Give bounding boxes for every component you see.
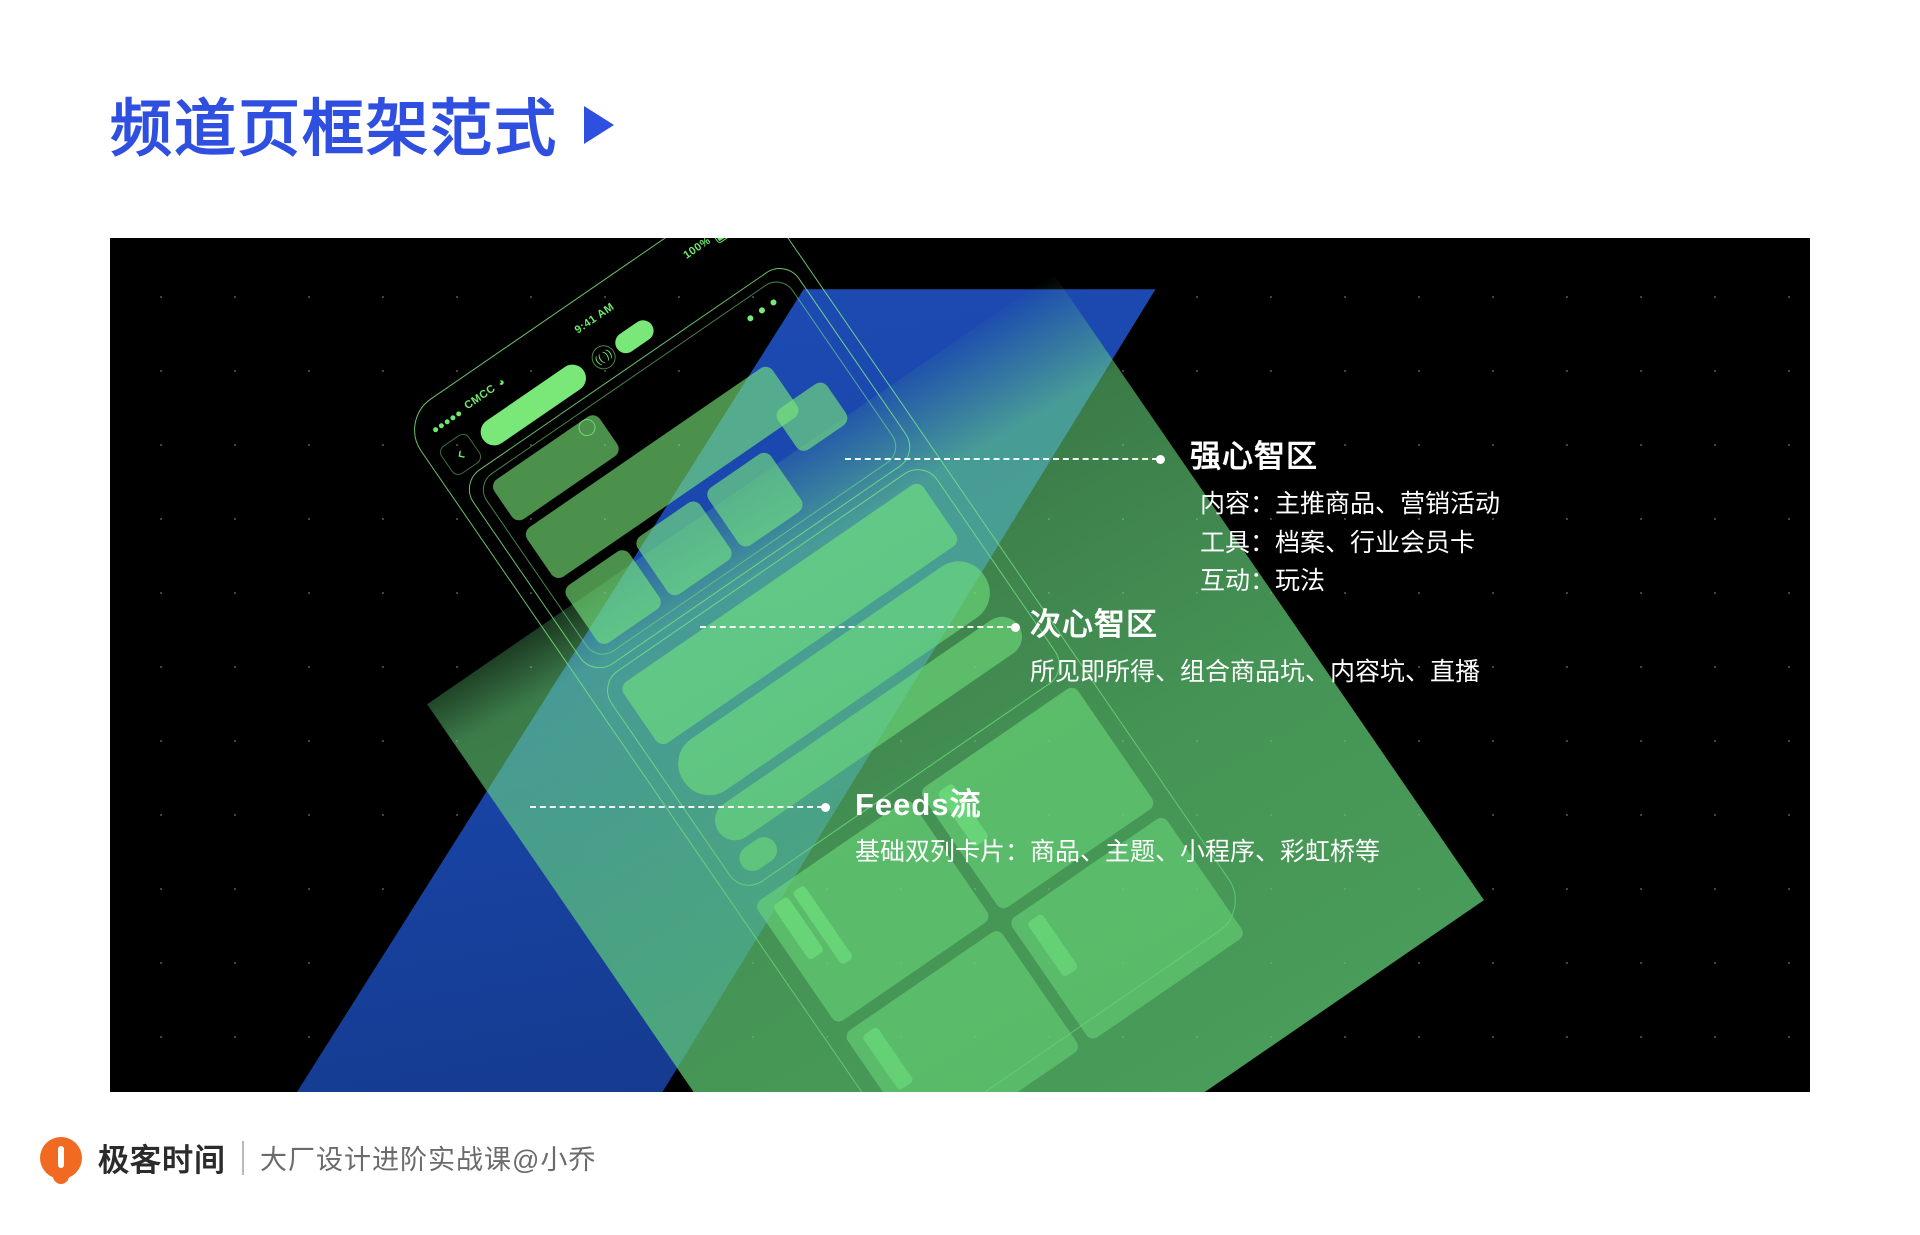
footer-divider [242, 1141, 244, 1175]
geektime-logo-icon [40, 1137, 82, 1179]
annotation-heading: 强心智区 [1190, 438, 1500, 477]
annotation-line: 工具：档案、行业会员卡 [1200, 524, 1500, 563]
annotation-strong-mind-zone: 强心智区 内容：主推商品、营销活动 工具：档案、行业会员卡 互动：玩法 [1190, 438, 1500, 601]
footer: 极客时间 大厂设计进阶实战课@小乔 [40, 1135, 596, 1180]
leader-dash [700, 626, 1013, 628]
leader-endpoint-dot [821, 803, 830, 812]
footer-brand-label: 极客时间 [98, 1135, 226, 1180]
diagram-stage: CMCC ◕ 9:41 AM 100% ‹ (( )) [110, 238, 1810, 1092]
annotation-line: 内容：主推商品、营销活动 [1200, 485, 1500, 524]
annotation-secondary-mind-zone: 次心智区 所见即所得、组合商品坑、内容坑、直播 [1030, 606, 1480, 692]
leader-endpoint-dot [1011, 623, 1020, 632]
annotation-line: 所见即所得、组合商品坑、内容坑、直播 [1030, 653, 1480, 692]
wifi-icon: ◕ [495, 376, 508, 390]
leader-endpoint-dot [1156, 455, 1165, 464]
leader-line-secondary-mind [700, 626, 1020, 628]
leader-dash [845, 458, 1158, 460]
leader-dash [530, 806, 823, 808]
footer-course-label: 大厂设计进阶实战课@小乔 [260, 1138, 596, 1177]
play-triangle-icon [584, 106, 614, 144]
leader-line-strong-mind [845, 458, 1165, 460]
page-title: 频道页框架范式 [110, 78, 614, 168]
annotation-heading: Feeds流 [855, 786, 1380, 825]
page-title-text: 频道页框架范式 [110, 78, 558, 168]
leader-line-feeds [530, 806, 830, 808]
annotation-heading: 次心智区 [1030, 606, 1480, 645]
annotation-line: 互动：玩法 [1200, 562, 1500, 601]
annotation-line: 基础双列卡片：商品、主题、小程序、彩虹桥等 [855, 833, 1380, 872]
annotation-feeds-flow: Feeds流 基础双列卡片：商品、主题、小程序、彩虹桥等 [855, 786, 1380, 872]
